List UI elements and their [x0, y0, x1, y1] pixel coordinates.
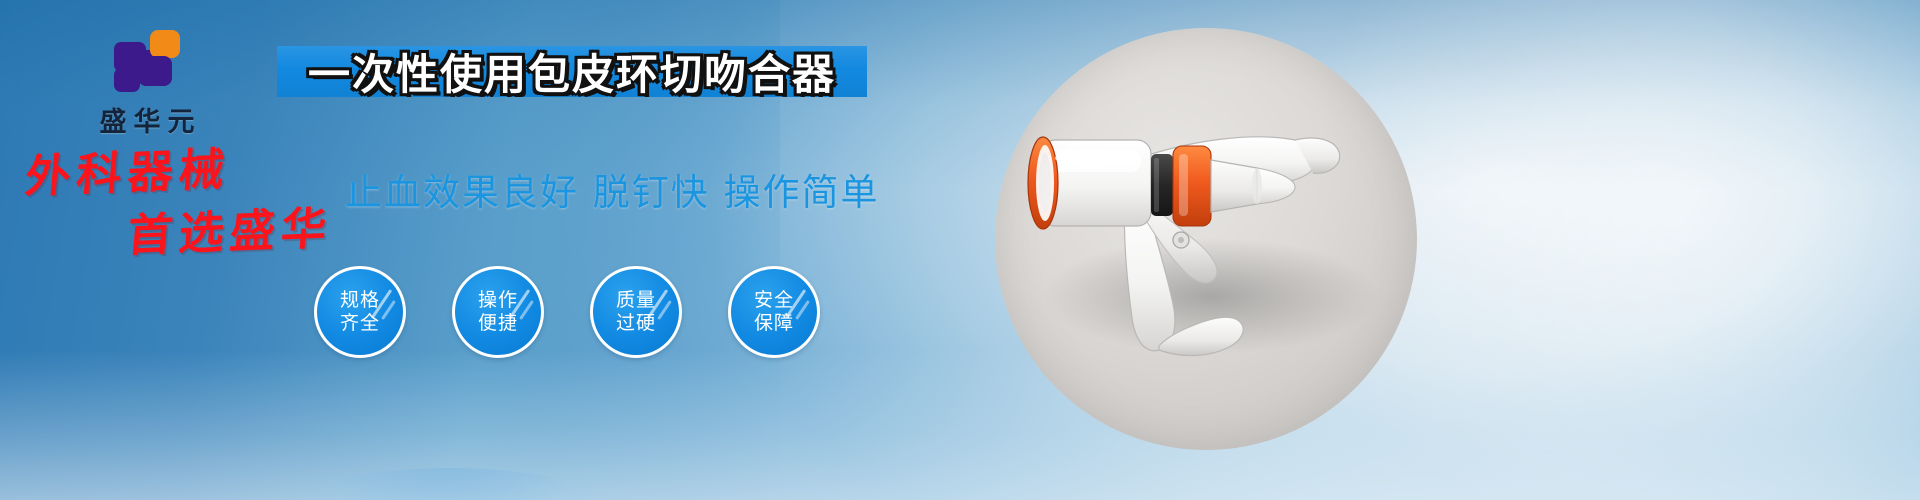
feature-badge-line-1: 操作 — [478, 289, 518, 312]
feature-badge-line-2: 过硬 — [616, 312, 656, 335]
background-bottom-fade — [0, 350, 1920, 500]
logo-block-purple-right — [138, 56, 172, 86]
feature-badge[interactable]: 安全 保障 — [728, 266, 820, 358]
shenghuayuan-blocks-logo-icon — [114, 30, 180, 92]
circumcision-stapler-illustration — [995, 28, 1417, 450]
calligraphy-line-2: 首选盛华 — [126, 205, 355, 259]
feature-badge-line-2: 齐全 — [340, 312, 380, 335]
logo-block-purple-bottom — [114, 68, 140, 92]
feature-badge[interactable]: 操作 便捷 — [452, 266, 544, 358]
feature-badge[interactable]: 质量 过硬 — [590, 266, 682, 358]
company-name: 盛华元 — [62, 100, 232, 139]
feature-badge-line-1: 安全 — [754, 289, 794, 312]
feature-badge-line-2: 便捷 — [478, 312, 518, 335]
calligraphy-slogan: 外科器械 首选盛华 — [22, 148, 352, 254]
product-subtitle: 止血效果良好 脱钉快 操作简单 — [345, 162, 880, 216]
feature-badge-line-1: 质量 — [616, 289, 656, 312]
brand-logo-block: 盛华元 — [62, 30, 232, 139]
logo-block-orange — [150, 30, 180, 58]
calligraphy-line-1: 外科器械 — [23, 142, 354, 199]
feature-badge[interactable]: 规格 齐全 — [314, 266, 406, 358]
feature-badge-line-2: 保障 — [754, 312, 794, 335]
product-photo — [995, 28, 1417, 450]
promo-banner: 盛华元 外科器械 首选盛华 一次性使用包皮环切吻合器 止血效果良好 脱钉快 操作… — [0, 0, 1920, 500]
product-title-band: 一次性使用包皮环切吻合器 — [277, 46, 867, 97]
feature-badge-list: 规格 齐全 操作 便捷 质量 过硬 安全 保障 — [314, 266, 820, 358]
feature-badge-line-1: 规格 — [340, 289, 380, 312]
page-title: 一次性使用包皮环切吻合器 — [308, 46, 836, 97]
